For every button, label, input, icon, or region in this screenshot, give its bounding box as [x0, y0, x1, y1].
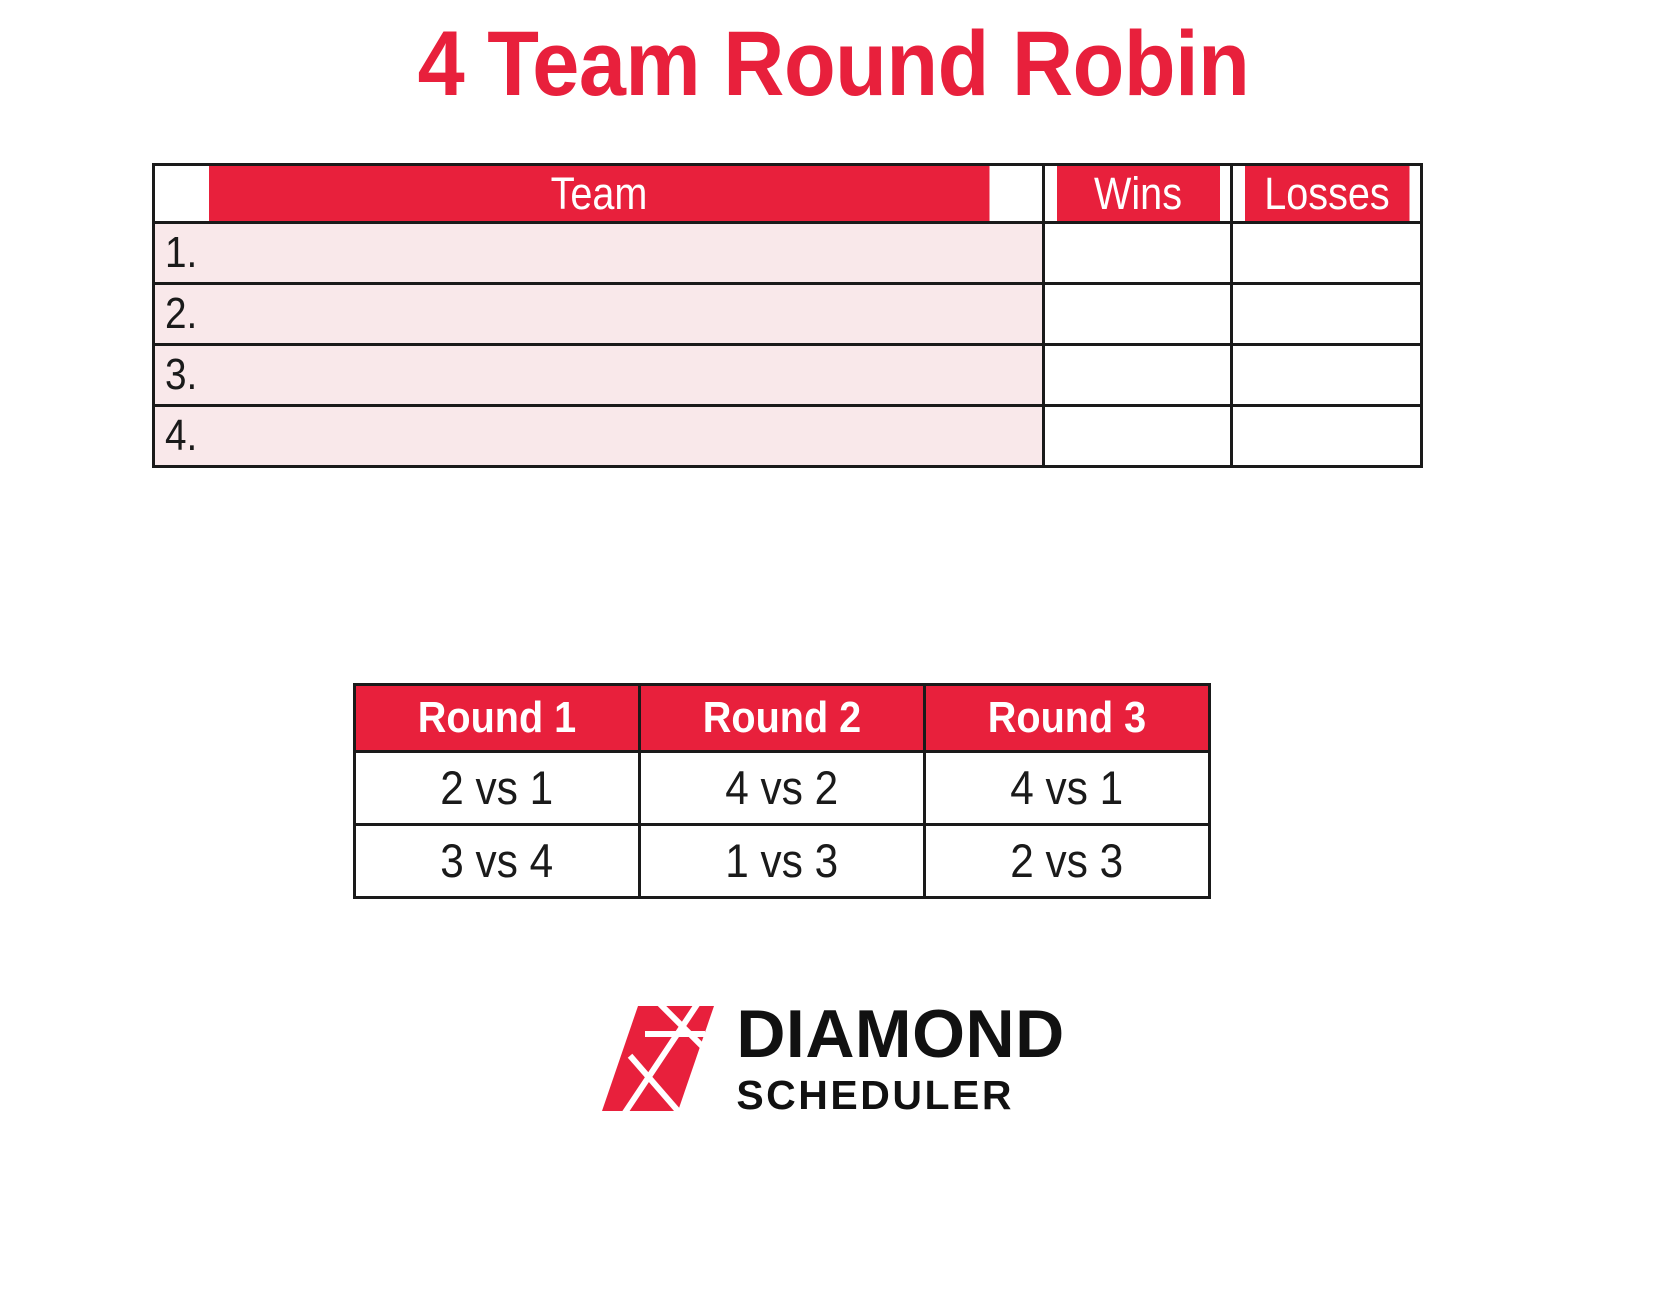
- schedule-header-row: Round 1 Round 2 Round 3: [355, 685, 1210, 752]
- table-row: 1.: [154, 223, 1422, 284]
- team-row-number-4: 4.: [165, 407, 197, 465]
- team-row-number-1: 1.: [165, 224, 197, 282]
- round-3-label: Round 3: [988, 686, 1146, 750]
- brand-wordmark: DIAMOND SCHEDULER: [736, 1000, 1064, 1116]
- match-label: 4 vs 1: [1011, 753, 1124, 823]
- losses-field-2[interactable]: [1232, 284, 1422, 345]
- match-label: 2 vs 1: [441, 753, 554, 823]
- schedule-header-round-2: Round 2: [640, 685, 925, 752]
- wins-field-2[interactable]: [1044, 284, 1232, 345]
- losses-field-1[interactable]: [1232, 223, 1422, 284]
- brand-name-secondary: SCHEDULER: [736, 1075, 1064, 1116]
- match-r3-g2[interactable]: 2 vs 3: [925, 825, 1210, 898]
- standings-table: Team Wins Losses 1. 2. 3. 4.: [152, 163, 1423, 468]
- schedule-header-round-3: Round 3: [925, 685, 1210, 752]
- standings-header-row: Team Wins Losses: [154, 165, 1422, 223]
- team-name-field-4[interactable]: 4.: [154, 406, 1044, 467]
- losses-field-4[interactable]: [1232, 406, 1422, 467]
- team-name-field-3[interactable]: 3.: [154, 345, 1044, 406]
- wins-field-4[interactable]: [1044, 406, 1232, 467]
- standings-header-wins: Wins: [1055, 165, 1220, 223]
- team-row-number-3: 3.: [165, 346, 197, 404]
- team-name-field-2[interactable]: 2.: [154, 284, 1044, 345]
- losses-field-3[interactable]: [1232, 345, 1422, 406]
- match-label: 1 vs 3: [726, 826, 839, 896]
- table-row: 4.: [154, 406, 1422, 467]
- match-r2-g1[interactable]: 4 vs 2: [640, 752, 925, 825]
- match-r3-g1[interactable]: 4 vs 1: [925, 752, 1210, 825]
- table-row: 3.: [154, 345, 1422, 406]
- schedule-table-container: Round 1 Round 2 Round 3 2 vs 1 4 vs 2 4 …: [353, 683, 1209, 899]
- standings-header-losses: Losses: [1243, 165, 1410, 223]
- round-1-label: Round 1: [418, 686, 576, 750]
- match-label: 3 vs 4: [441, 826, 554, 896]
- table-row: 2.: [154, 284, 1422, 345]
- team-row-number-2: 2.: [165, 285, 197, 343]
- schedule-table: Round 1 Round 2 Round 3 2 vs 1 4 vs 2 4 …: [353, 683, 1211, 899]
- page-title: 4 Team Round Robin: [67, 18, 1601, 110]
- diamond-lattice-icon: [602, 1006, 714, 1111]
- table-row: 2 vs 1 4 vs 2 4 vs 1: [355, 752, 1210, 825]
- match-label: 4 vs 2: [726, 753, 839, 823]
- match-r1-g1[interactable]: 2 vs 1: [355, 752, 640, 825]
- match-r1-g2[interactable]: 3 vs 4: [355, 825, 640, 898]
- team-name-field-1[interactable]: 1.: [154, 223, 1044, 284]
- match-label: 2 vs 3: [1011, 826, 1124, 896]
- standings-header-team: Team: [207, 165, 990, 223]
- match-r2-g2[interactable]: 1 vs 3: [640, 825, 925, 898]
- brand-name-primary: DIAMOND: [736, 1000, 1064, 1068]
- standings-table-container: Team Wins Losses 1. 2. 3. 4.: [152, 163, 1420, 468]
- round-2-label: Round 2: [703, 686, 861, 750]
- schedule-header-round-1: Round 1: [355, 685, 640, 752]
- brand-logo: DIAMOND SCHEDULER: [0, 1000, 1667, 1116]
- wins-field-3[interactable]: [1044, 345, 1232, 406]
- table-row: 3 vs 4 1 vs 3 2 vs 3: [355, 825, 1210, 898]
- wins-field-1[interactable]: [1044, 223, 1232, 284]
